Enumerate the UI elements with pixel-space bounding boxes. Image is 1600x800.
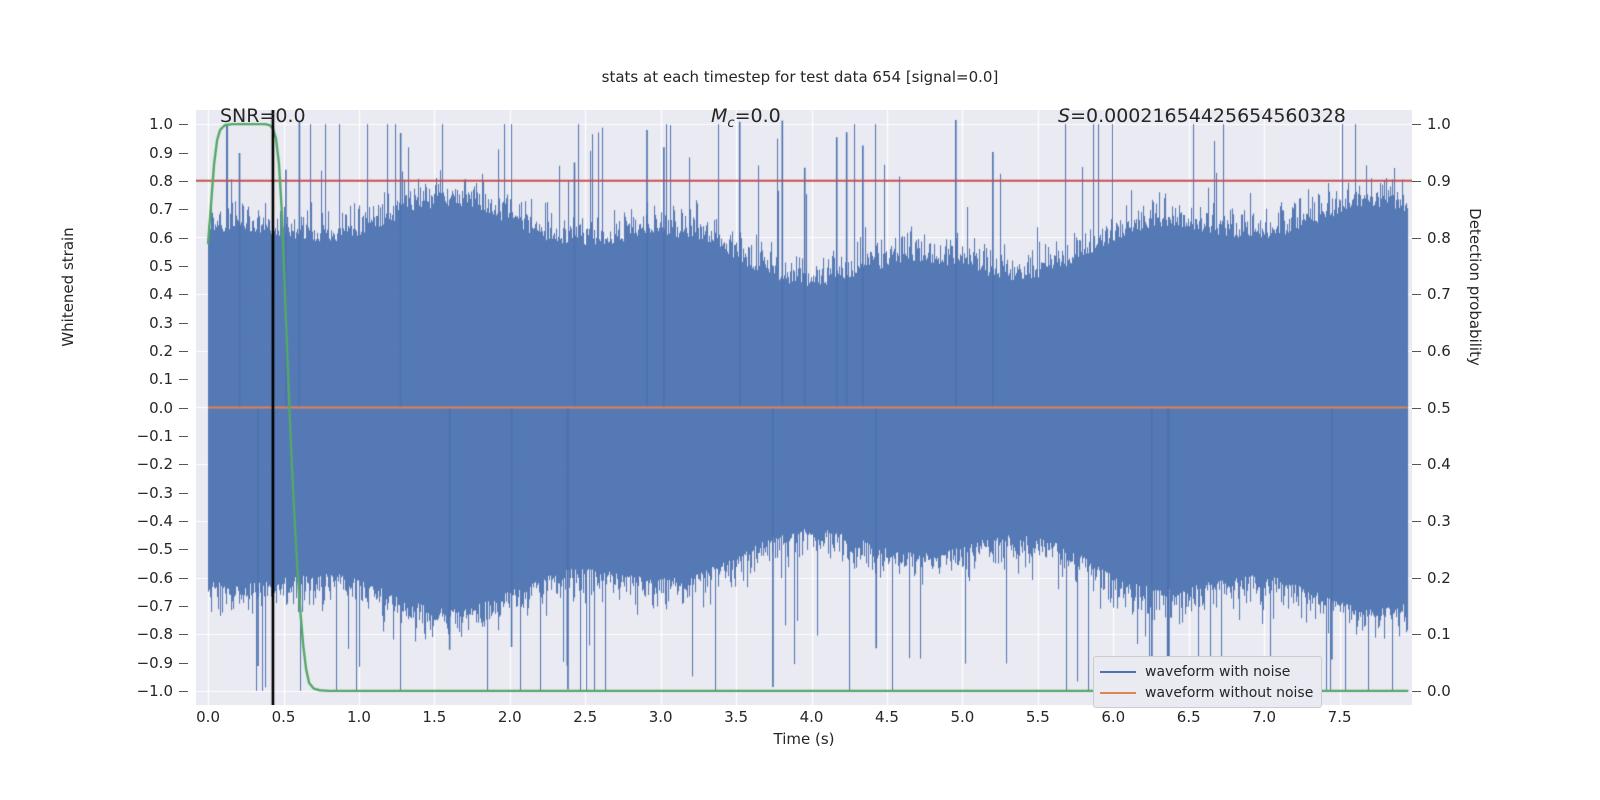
x-tick-label: 7.0 — [1252, 708, 1276, 726]
y-tick-left-mark — [179, 521, 188, 522]
plot-area[interactable]: SNR=0.0 Mc=0.0 S=0.00021654425654560328 … — [196, 110, 1412, 705]
y-tick-right: 0.4 — [1412, 455, 1451, 473]
y-tick-left: −0.5 — [137, 540, 188, 558]
y-tick-left-label: 0.5 — [149, 257, 173, 275]
y-tick-left: 0.8 — [149, 172, 188, 190]
x-tick-label: 3.5 — [724, 708, 748, 726]
y-tick-left: −0.4 — [137, 512, 188, 530]
y-tick-left: 0.2 — [149, 342, 188, 360]
y-tick-left: 0.4 — [149, 285, 188, 303]
y-tick-left: 1.0 — [149, 115, 188, 133]
y-tick-left-label: 0.9 — [149, 144, 173, 162]
y-tick-left-mark — [179, 238, 188, 239]
y-tick-left: −0.3 — [137, 484, 188, 502]
y-tick-left-mark — [179, 351, 188, 352]
x-axis-label: Time (s) — [196, 730, 1412, 748]
y-tick-left-mark — [179, 606, 188, 607]
legend-label-noise: waveform with noise — [1145, 664, 1290, 680]
y-tick-left-label: 0.3 — [149, 314, 173, 332]
y-tick-right-label: 0.8 — [1427, 229, 1451, 247]
y-tick-left-mark — [179, 379, 188, 380]
plot-canvas[interactable] — [196, 110, 1412, 705]
y-tick-left-label: 0.2 — [149, 342, 173, 360]
y-tick-right-label: 0.4 — [1427, 455, 1451, 473]
x-tick-label: 6.0 — [1101, 708, 1125, 726]
y-tick-right-label: 1.0 — [1427, 115, 1451, 133]
y-tick-left-label: −0.8 — [137, 625, 173, 643]
x-tick-label: 2.5 — [573, 708, 597, 726]
y-tick-left-mark — [179, 294, 188, 295]
y-tick-right-label: 0.3 — [1427, 512, 1451, 530]
y-tick-left-mark — [179, 153, 188, 154]
x-tick-label: 1.5 — [422, 708, 446, 726]
annotation-chirp-mass: Mc=0.0 — [711, 105, 781, 131]
y-tick-right-mark — [1412, 351, 1421, 352]
mc-value: =0.0 — [735, 105, 781, 127]
y-tick-left-mark — [179, 493, 188, 494]
x-tick-label: 2.0 — [498, 708, 522, 726]
y-tick-left-mark — [179, 464, 188, 465]
y-tick-right: 0.9 — [1412, 172, 1451, 190]
y-tick-right-label: 0.0 — [1427, 682, 1451, 700]
y-tick-left-mark — [179, 578, 188, 579]
y-tick-right: 0.5 — [1412, 399, 1451, 417]
y-tick-right-mark — [1412, 578, 1421, 579]
y-tick-left-label: −0.2 — [137, 455, 173, 473]
x-tick-label: 4.0 — [800, 708, 824, 726]
y-tick-left: 0.0 — [149, 399, 188, 417]
y-tick-right-mark — [1412, 124, 1421, 125]
y-tick-left-mark — [179, 266, 188, 267]
y-tick-right-mark — [1412, 294, 1421, 295]
y-axis-left-label: Whitened strain — [59, 157, 77, 417]
y-tick-left: 0.6 — [149, 229, 188, 247]
y-tick-right-label: 0.2 — [1427, 569, 1451, 587]
y-tick-left-label: −1.0 — [137, 682, 173, 700]
y-tick-left-mark — [179, 549, 188, 550]
y-tick-left-label: 0.0 — [149, 399, 173, 417]
y-tick-right: 0.8 — [1412, 229, 1451, 247]
x-tick-label: 1.0 — [347, 708, 371, 726]
y-tick-left-label: 1.0 — [149, 115, 173, 133]
y-tick-left: −1.0 — [137, 682, 188, 700]
y-tick-right-mark — [1412, 408, 1421, 409]
y-tick-left-mark — [179, 663, 188, 664]
y-tick-right: 0.1 — [1412, 625, 1451, 643]
y-tick-left: 0.7 — [149, 200, 188, 218]
legend-swatch-clean — [1100, 692, 1136, 694]
mc-symbol: M — [711, 105, 727, 127]
y-tick-left-label: −0.4 — [137, 512, 173, 530]
legend[interactable]: waveform with noise waveform without noi… — [1093, 656, 1322, 708]
y-tick-left: −0.9 — [137, 654, 188, 672]
y-tick-left-label: 0.4 — [149, 285, 173, 303]
y-tick-left-label: −0.1 — [137, 427, 173, 445]
y-tick-left: −0.8 — [137, 625, 188, 643]
y-tick-right-label: 0.9 — [1427, 172, 1451, 190]
y-tick-right-label: 0.1 — [1427, 625, 1451, 643]
y-tick-left-label: −0.5 — [137, 540, 173, 558]
s-value: =0.00021654425654560328 — [1070, 105, 1346, 127]
y-tick-right-mark — [1412, 238, 1421, 239]
legend-item-waveform-with-noise[interactable]: waveform with noise — [1100, 661, 1313, 682]
y-tick-left-mark — [179, 124, 188, 125]
y-tick-left-label: −0.7 — [137, 597, 173, 615]
y-tick-left-mark — [179, 408, 188, 409]
y-tick-left-label: −0.3 — [137, 484, 173, 502]
y-tick-right-mark — [1412, 181, 1421, 182]
y-tick-left-label: −0.9 — [137, 654, 173, 672]
x-tick-label: 0.0 — [196, 708, 220, 726]
y-tick-left-mark — [179, 634, 188, 635]
x-tick-label: 3.0 — [649, 708, 673, 726]
y-tick-left: −0.2 — [137, 455, 188, 473]
legend-label-clean: waveform without noise — [1145, 685, 1313, 701]
y-tick-left-mark — [179, 323, 188, 324]
annotation-snr: SNR=0.0 — [220, 105, 306, 127]
y-tick-left: −0.1 — [137, 427, 188, 445]
x-tick-label: 5.0 — [950, 708, 974, 726]
y-tick-right-mark — [1412, 464, 1421, 465]
y-tick-right: 1.0 — [1412, 115, 1451, 133]
y-tick-left: 0.1 — [149, 370, 188, 388]
y-tick-left-mark — [179, 181, 188, 182]
y-tick-right-mark — [1412, 521, 1421, 522]
y-tick-left: 0.9 — [149, 144, 188, 162]
legend-swatch-noise — [1100, 671, 1136, 673]
y-tick-right-mark — [1412, 691, 1421, 692]
x-tick-label: 7.5 — [1328, 708, 1352, 726]
annotation-score: S=0.00021654425654560328 — [1058, 105, 1346, 127]
y-tick-right: 0.0 — [1412, 682, 1451, 700]
y-tick-left-label: 0.8 — [149, 172, 173, 190]
y-tick-right-mark — [1412, 634, 1421, 635]
y-tick-left-label: −0.6 — [137, 569, 173, 587]
chart-title: stats at each timestep for test data 654… — [0, 68, 1600, 86]
y-tick-right: 0.3 — [1412, 512, 1451, 530]
y-tick-left-label: 0.6 — [149, 229, 173, 247]
y-tick-left: 0.5 — [149, 257, 188, 275]
s-symbol: S — [1058, 105, 1070, 127]
y-tick-right: 0.7 — [1412, 285, 1451, 303]
y-tick-right-label: 0.6 — [1427, 342, 1451, 360]
y-tick-right-label: 0.7 — [1427, 285, 1451, 303]
x-tick-label: 0.5 — [272, 708, 296, 726]
y-tick-right: 0.2 — [1412, 569, 1451, 587]
y-tick-left-label: 0.1 — [149, 370, 173, 388]
y-tick-left-mark — [179, 209, 188, 210]
y-tick-left-mark — [179, 436, 188, 437]
y-tick-left-mark — [179, 691, 188, 692]
y-axis-right-label: Detection probability — [1466, 157, 1484, 417]
y-tick-left: 0.3 — [149, 314, 188, 332]
x-tick-label: 4.5 — [875, 708, 899, 726]
x-tick-label: 6.5 — [1177, 708, 1201, 726]
mc-subscript: c — [727, 116, 734, 131]
y-tick-right: 0.6 — [1412, 342, 1451, 360]
y-tick-left: −0.6 — [137, 569, 188, 587]
legend-item-waveform-without-noise[interactable]: waveform without noise — [1100, 682, 1313, 703]
y-tick-left: −0.7 — [137, 597, 188, 615]
y-tick-left-label: 0.7 — [149, 200, 173, 218]
x-tick-label: 5.5 — [1026, 708, 1050, 726]
figure: stats at each timestep for test data 654… — [0, 0, 1600, 800]
y-tick-right-label: 0.5 — [1427, 399, 1451, 417]
